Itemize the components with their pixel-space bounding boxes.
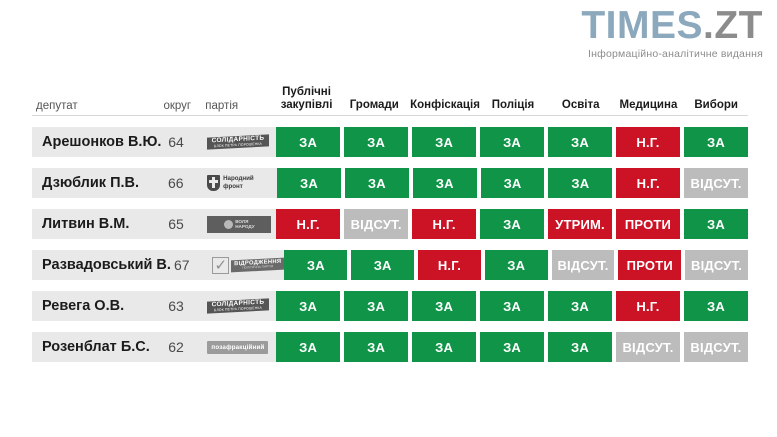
column-header-issue-3: Поліція <box>481 99 545 112</box>
vote-cell: Н.Г. <box>418 250 481 280</box>
brand-title-accent: .ZT <box>703 4 763 47</box>
vote-cell: ВІДСУТ. <box>552 250 615 280</box>
table-row: Розенблат Б.С.62позафракційнийЗАЗАЗАЗАЗА… <box>32 332 748 362</box>
vote-cell: ЗА <box>684 291 748 321</box>
party-cell: ВОЛЯНАРОДУ <box>206 209 276 239</box>
column-header-issue-5: Медицина <box>617 99 681 112</box>
vote-cell: ЗА <box>412 291 476 321</box>
vote-cell: ВІДСУТ. <box>685 250 748 280</box>
shield-icon <box>207 175 220 191</box>
deputy-name: Розенблат Б.С. <box>32 332 164 362</box>
party-logo-pozafraktsiynyi: позафракційний <box>207 338 268 356</box>
vote-cell: ЗА <box>277 168 341 198</box>
brand-title: TIMES.ZT <box>581 6 763 45</box>
column-header-issue-2: Конфіскація <box>410 99 477 112</box>
table-row: Арешонков В.Ю.64СОЛІДАРНІСТЬБЛОК ПЕТРА П… <box>32 127 748 157</box>
district-number: 67 <box>170 250 211 280</box>
column-header-issue-0: Публічні закупівлі <box>275 86 339 112</box>
vote-cell: ВІДСУТ. <box>616 332 680 362</box>
party-logo-badge: СОЛІДАРНІСТЬБЛОК ПЕТРА ПОРОШЕНКА <box>207 298 269 313</box>
party-logo-volya-narodu: ВОЛЯНАРОДУ <box>207 215 271 233</box>
vote-cell: ПРОТИ <box>618 250 681 280</box>
deputy-name: Литвин В.М. <box>32 209 164 239</box>
column-header-issue-1: Громади <box>342 99 406 112</box>
district-number: 63 <box>164 291 206 321</box>
district-number: 66 <box>164 168 206 198</box>
party-logo-text: Народнийфронт <box>223 175 254 191</box>
table-header-row: депутат округ партія Публічні закупівлі … <box>32 82 748 115</box>
table-row: Дзюблик П.В.66НароднийфронтЗАЗАЗАЗАЗАН.Г… <box>32 168 748 198</box>
deputy-name: Арешонков В.Ю. <box>32 127 164 157</box>
table-row: Развадовський В.Й.67✓ВІДРОДЖЕННЯПОЛІТИЧН… <box>32 250 748 280</box>
party-cell: СОЛІДАРНІСТЬБЛОК ПЕТРА ПОРОШЕНКА <box>206 127 276 157</box>
deputy-name: Развадовський В.Й. <box>32 250 170 280</box>
brand-tagline: Інформаційно-аналітичне видання <box>581 49 763 60</box>
column-header-okrug: округ <box>163 100 205 112</box>
vote-cell: ПРОТИ <box>616 209 680 239</box>
vote-cell: ЗА <box>480 209 544 239</box>
vote-cell: ЗА <box>548 332 612 362</box>
vote-cell: Н.Г. <box>616 127 680 157</box>
column-header-deputat: депутат <box>32 100 163 112</box>
vote-cell: УТРИМ. <box>548 209 612 239</box>
header-divider <box>32 115 748 116</box>
vote-cell: ЗА <box>345 168 409 198</box>
vote-cell: ЗА <box>412 127 476 157</box>
party-logo-line2: НАРОДУ <box>235 224 254 230</box>
party-cell: СОЛІДАРНІСТЬБЛОК ПЕТРА ПОРОШЕНКА <box>206 291 276 321</box>
vote-cell: ЗА <box>481 168 545 198</box>
deputy-name: Ревега О.В. <box>32 291 164 321</box>
vote-cell: ЗА <box>684 209 748 239</box>
issue-0-line1: Публічні <box>275 86 339 99</box>
party-cell: Народнийфронт <box>206 168 277 198</box>
party-logo-text: ВІДРОДЖЕННЯПОЛІТИЧНА ПАРТІЯ <box>231 258 284 273</box>
vote-cell: ЗА <box>276 127 340 157</box>
table-row: Ревега О.В.63СОЛІДАРНІСТЬБЛОК ПЕТРА ПОРО… <box>32 291 748 321</box>
site-brand: TIMES.ZT Інформаційно-аналітичне видання <box>581 6 763 60</box>
party-logo-solidarnist: СОЛІДАРНІСТЬБЛОК ПЕТРА ПОРОШЕНКА <box>207 297 269 315</box>
party-logo-badge: ✓ВІДРОДЖЕННЯПОЛІТИЧНА ПАРТІЯ <box>212 257 284 274</box>
column-header-partiya: партія <box>205 100 274 112</box>
vote-cell: ЗА <box>344 291 408 321</box>
vote-cell: ВІДСУТ. <box>684 168 748 198</box>
vote-cell: Н.Г. <box>616 168 680 198</box>
vote-cell: Н.Г. <box>412 209 476 239</box>
voting-table: депутат округ партія Публічні закупівлі … <box>32 82 748 362</box>
party-cell: ✓ВІДРОДЖЕННЯПОЛІТИЧНА ПАРТІЯ <box>211 250 284 280</box>
vote-cell: Н.Г. <box>616 291 680 321</box>
brand-title-main: TIMES <box>581 4 703 47</box>
party-logo-line2: БЛОК ПЕТРА ПОРОШЕНКА <box>210 142 266 148</box>
deputy-name: Дзюблик П.В. <box>32 168 164 198</box>
vote-cell: ЗА <box>276 291 340 321</box>
district-number: 62 <box>164 332 206 362</box>
vote-cell: ЗА <box>276 332 340 362</box>
party-logo-line2: БЛОК ПЕТРА ПОРОШЕНКА <box>210 306 266 312</box>
table-row: Литвин В.М.65ВОЛЯНАРОДУН.Г.ВІДСУТ.Н.Г.ЗА… <box>32 209 748 239</box>
party-logo-solidarnist: СОЛІДАРНІСТЬБЛОК ПЕТРА ПОРОШЕНКА <box>207 133 269 151</box>
party-logo-badge: позафракційний <box>207 341 268 354</box>
vote-cell: Н.Г. <box>276 209 340 239</box>
vote-cell: ЗА <box>485 250 548 280</box>
vote-cell: ВІДСУТ. <box>684 332 748 362</box>
party-logo-badge: ВОЛЯНАРОДУ <box>207 216 271 233</box>
vote-cell: ЗА <box>480 291 544 321</box>
party-logo-narodnyi-front: Народнийфронт <box>207 174 277 192</box>
vote-cell: ЗА <box>344 127 408 157</box>
vote-cell: ЗА <box>548 168 612 198</box>
issue-0-line2: закупівлі <box>275 99 339 112</box>
vote-cell: ЗА <box>344 332 408 362</box>
vote-cell: ЗА <box>548 127 612 157</box>
district-number: 64 <box>164 127 206 157</box>
sun-icon <box>224 220 233 229</box>
party-logo-badge: Народнийфронт <box>207 175 277 191</box>
party-logo-line2: фронт <box>223 183 254 191</box>
vote-cell: ЗА <box>412 332 476 362</box>
vote-cell: ЗА <box>684 127 748 157</box>
vote-cell: ЗА <box>548 291 612 321</box>
column-header-issue-4: Освіта <box>549 99 613 112</box>
vote-cell: ЗА <box>351 250 414 280</box>
vote-cell: ЗА <box>480 127 544 157</box>
vote-cell: ВІДСУТ. <box>344 209 408 239</box>
vote-cell: ЗА <box>480 332 544 362</box>
district-number: 65 <box>164 209 206 239</box>
party-logo-badge: СОЛІДАРНІСТЬБЛОК ПЕТРА ПОРОШЕНКА <box>207 134 269 149</box>
party-logo-vidrodzhennya: ✓ВІДРОДЖЕННЯПОЛІТИЧНА ПАРТІЯ <box>212 256 284 274</box>
vote-cell: ЗА <box>284 250 347 280</box>
party-logo-text: ВОЛЯНАРОДУ <box>235 219 254 230</box>
column-header-issue-6: Вибори <box>684 99 748 112</box>
vote-cell: ЗА <box>413 168 477 198</box>
table-body: Арешонков В.Ю.64СОЛІДАРНІСТЬБЛОК ПЕТРА П… <box>32 127 748 362</box>
party-cell: позафракційний <box>206 332 276 362</box>
party-logo-line1: Народний <box>223 175 254 183</box>
checkmark-icon: ✓ <box>212 257 229 274</box>
